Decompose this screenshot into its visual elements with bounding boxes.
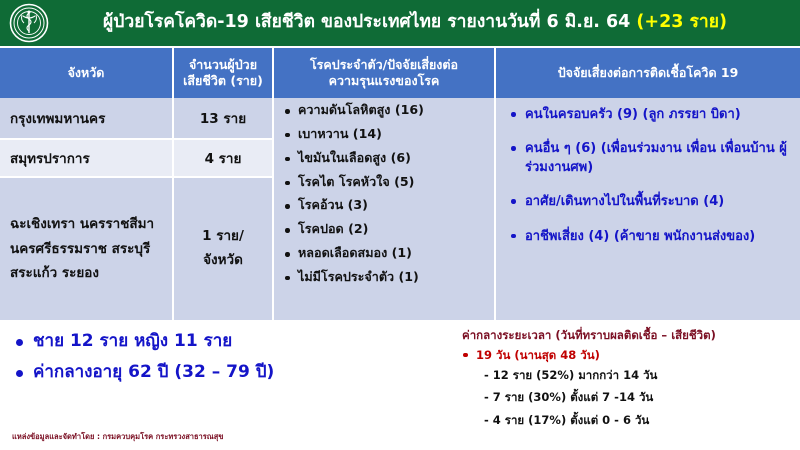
table-row-province-2: สมุทรปราการ (0, 140, 172, 176)
conditions-column: ความดันโลหิตสูง (16) เบาหวาน (14) ไขมันใ… (274, 98, 494, 320)
province-3-line2: นครศรีธรรมราช สระบุรี (10, 237, 154, 262)
duration-list: 19 วัน (นานสุด 48 วัน) - 12 ราย (52%) มา… (462, 349, 792, 428)
table-row-province-1: กรุงเทพมหานคร (0, 98, 172, 138)
list-item: คนในครอบครัว (9) (ลูก ภรรยา บิดา) (510, 106, 794, 124)
count-3-line2: จังหวัด (174, 249, 272, 273)
list-item: โรคไต โรคหัวใจ (5) (284, 176, 490, 189)
list-item: - 7 ราย (30%) ตั้งแต่ 7 -14 วัน (462, 391, 792, 405)
list-item: อาศัย/เดินทางไปในพื้นที่ระบาด (4) (510, 193, 794, 211)
page-title-accent: (+23 ราย) (636, 12, 727, 32)
death-count-column: 13 ราย 4 ราย 1 ราย/ จังหวัด (174, 98, 272, 320)
count-3-line1: 1 ราย/ (174, 225, 272, 249)
page-title-main: ผู้ป่วยโรคโควิด-19 เสียชีวิต ของประเทศไท… (103, 12, 636, 32)
table-row-count-1: 13 ราย (174, 98, 272, 138)
list-item: - 12 ราย (52%) มากกว่า 14 วัน (462, 369, 792, 383)
source-footer: แหล่งข้อมูลและจัดทำโดย : กรมควบคุมโรค กร… (12, 431, 223, 443)
risk-factors-column: คนในครอบครัว (9) (ลูก ภรรยา บิดา) คนอื่น… (496, 98, 800, 320)
column-header-conditions: โรคประจำตัว/ปัจจัยเสี่ยงต่อ ความรุนแรงขอ… (274, 48, 494, 98)
deaths-table: จังหวัด จำนวนผู้ป่วย เสียชีวิต (ราย) โรค… (0, 48, 800, 320)
column-header-death-count-line2: เสียชีวิต (ราย) (183, 73, 263, 90)
table-row-count-3: 1 ราย/ จังหวัด (174, 178, 272, 320)
list-item: อาชีพเสี่ยง (4) (ค้าขาย พนักงานส่งของ) (510, 228, 794, 246)
table-header-row: จังหวัด จำนวนผู้ป่วย เสียชีวิต (ราย) โรค… (0, 48, 800, 98)
list-item: คนอื่น ๆ (6) (เพื่อนร่วมงาน เพื่อน เพื่อ… (510, 140, 794, 177)
summary-section: ชาย 12 ราย หญิง 11 ราย ค่ากลางอายุ 62 ปี… (14, 332, 444, 393)
page-title: ผู้ป่วยโรคโควิด-19 เสียชีวิต ของประเทศไท… (50, 13, 800, 32)
conditions-list: ความดันโลหิตสูง (16) เบาหวาน (14) ไขมันใ… (284, 104, 490, 284)
list-item: ชาย 12 ราย หญิง 11 ราย (14, 332, 444, 352)
column-header-conditions-line2: ความรุนแรงของโรค (310, 73, 458, 90)
province-3-line1: ฉะเชิงเทรา นครราชสีมา (10, 212, 154, 237)
summary-list: ชาย 12 ราย หญิง 11 ราย ค่ากลางอายุ 62 ปี… (14, 332, 444, 382)
column-header-conditions-line1: โรคประจำตัว/ปัจจัยเสี่ยงต่อ (310, 57, 458, 74)
list-item: โรคอ้วน (3) (284, 199, 490, 212)
risk-factors-list: คนในครอบครัว (9) (ลูก ภรรยา บิดา) คนอื่น… (510, 106, 794, 246)
column-header-death-count: จำนวนผู้ป่วย เสียชีวิต (ราย) (174, 48, 272, 98)
table-row-count-2: 4 ราย (174, 140, 272, 176)
duration-title: ค่ากลางระยะเวลา (วันที่ทราบผลติดเชื้อ – … (462, 329, 792, 343)
list-item: - 4 ราย (17%) ตั้งแต่ 0 - 6 วัน (462, 414, 792, 428)
duration-section: ค่ากลางระยะเวลา (วันที่ทราบผลติดเชื้อ – … (462, 329, 792, 437)
list-item: ไขมันในเลือดสูง (6) (284, 152, 490, 165)
list-item: เบาหวาน (14) (284, 128, 490, 141)
list-item: หลอดเลือดสมอง (1) (284, 247, 490, 260)
list-item: ไม่มีโรคประจำตัว (1) (284, 271, 490, 284)
list-item: ความดันโลหิตสูง (16) (284, 104, 490, 117)
page-header: ผู้ป่วยโรคโควิด-19 เสียชีวิต ของประเทศไท… (0, 0, 800, 46)
province-3-line3: สระแก้ว ระยอง (10, 261, 154, 286)
list-item: โรคปอด (2) (284, 223, 490, 236)
column-header-death-count-line1: จำนวนผู้ป่วย (183, 57, 263, 74)
column-header-province: จังหวัด (0, 48, 172, 98)
ministry-seal-logo (8, 2, 50, 44)
province-column: กรุงเทพมหานคร สมุทรปราการ ฉะเชิงเทรา นคร… (0, 98, 172, 320)
column-header-risk-factors: ปัจจัยเสี่ยงต่อการติดเชื้อโควิด 19 (496, 48, 800, 98)
duration-main-item: 19 วัน (นานสุด 48 วัน) (462, 349, 792, 363)
list-item: ค่ากลางอายุ 62 ปี (32 – 79 ปี) (14, 363, 444, 383)
table-body: กรุงเทพมหานคร สมุทรปราการ ฉะเชิงเทรา นคร… (0, 98, 800, 320)
table-row-province-3: ฉะเชิงเทรา นครราชสีมา นครศรีธรรมราช สระบ… (0, 178, 172, 320)
